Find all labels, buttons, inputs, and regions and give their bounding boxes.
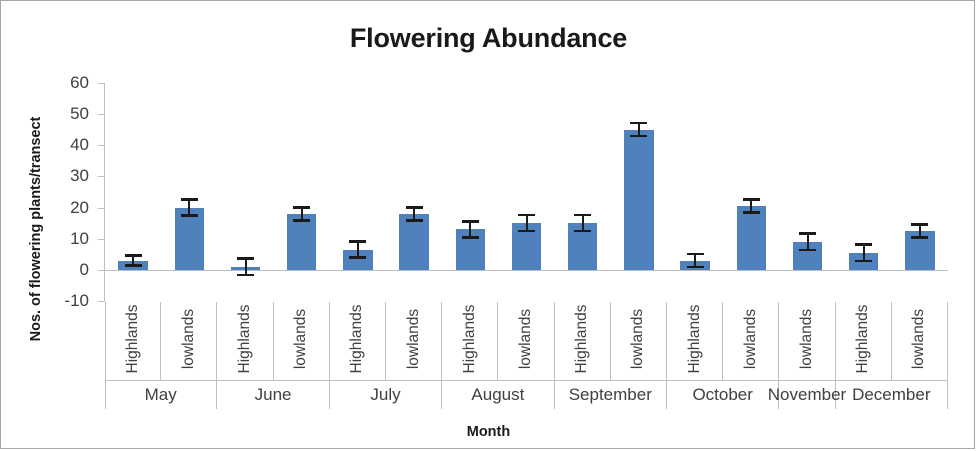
error-bar: [685, 253, 705, 269]
y-tick-mark: [98, 239, 105, 240]
error-bar-cap-bottom: [518, 230, 535, 233]
y-tick-label: 60: [70, 73, 89, 93]
category-label-cell-lowlands: lowlands: [611, 302, 667, 380]
category-label-cell-highlands: Highlands: [555, 302, 611, 380]
error-bar: [460, 220, 480, 239]
x-axis-title: Month: [1, 424, 976, 440]
y-tick-mark: [98, 145, 105, 146]
category-label-cell-highlands: Highlands: [217, 302, 273, 380]
month-label-cell: September: [555, 381, 667, 409]
y-tick-label: 40: [70, 135, 89, 155]
y-tick-label: 30: [70, 166, 89, 186]
y-axis-title: Nos. of flowering plants/transect: [23, 79, 49, 379]
error-bar-cap-bottom: [125, 264, 142, 267]
error-bar-cap-bottom: [687, 266, 704, 269]
category-label: lowlands: [517, 309, 535, 369]
category-label-cell-lowlands: lowlands: [274, 302, 330, 380]
category-label: Highlands: [573, 305, 591, 374]
error-bar-cap-bottom: [349, 256, 366, 259]
category-label: lowlands: [798, 309, 816, 369]
bar[interactable]: [624, 130, 653, 270]
month-label: June: [255, 385, 292, 405]
chart-title: Flowering Abundance: [1, 23, 976, 54]
error-bar-cap-top: [911, 223, 928, 226]
error-bar: [292, 206, 312, 222]
error-bar-cap-top: [406, 206, 423, 209]
month-label: October: [692, 385, 752, 405]
y-tick-mark: [98, 176, 105, 177]
y-tick-label: 0: [80, 260, 89, 280]
error-bar-cap-top: [687, 253, 704, 256]
error-bar-cap-top: [743, 198, 760, 201]
error-bar: [798, 232, 818, 251]
category-label-cell-highlands: Highlands: [442, 302, 498, 380]
category-label: Highlands: [461, 305, 479, 374]
error-bar: [179, 198, 199, 217]
month-label-cell: May: [105, 381, 217, 409]
month-label: December: [852, 385, 930, 405]
category-label: lowlands: [180, 309, 198, 369]
month-label: July: [370, 385, 400, 405]
month-label-cell: October: [667, 381, 779, 409]
category-label: Highlands: [686, 305, 704, 374]
error-bar-cap-bottom: [855, 260, 872, 263]
error-bar-cap-bottom: [799, 249, 816, 252]
month-label-cell: August: [442, 381, 554, 409]
error-bar-cap-bottom: [181, 214, 198, 217]
error-bar-cap-bottom: [911, 236, 928, 239]
error-bar-cap-top: [125, 254, 142, 257]
category-label-cell-highlands: Highlands: [105, 302, 161, 380]
plot-area: [105, 83, 948, 301]
y-tick-mark: [98, 270, 105, 271]
category-label: Highlands: [348, 305, 366, 374]
error-bar-cap-top: [574, 214, 591, 217]
category-label-cell-lowlands: lowlands: [386, 302, 442, 380]
category-label-cell-lowlands: lowlands: [161, 302, 217, 380]
category-label: lowlands: [405, 309, 423, 369]
bar[interactable]: [287, 214, 316, 270]
category-label-cell-lowlands: lowlands: [892, 302, 948, 380]
month-label-cell: December: [836, 381, 948, 409]
month-label: May: [145, 385, 177, 405]
category-labels-band: HighlandslowlandsHighlandslowlandsHighla…: [105, 302, 948, 381]
month-label: August: [471, 385, 524, 405]
error-bar-cap-top: [349, 240, 366, 243]
error-bar: [517, 214, 537, 233]
category-label: Highlands: [236, 305, 254, 374]
bar[interactable]: [737, 206, 766, 270]
y-tick-mark: [98, 301, 105, 302]
y-tick-mark: [98, 83, 105, 84]
error-bar-cap-bottom: [237, 274, 254, 277]
y-tick-mark: [98, 114, 105, 115]
y-tick-label: -10: [64, 291, 89, 311]
error-bar-cap-top: [462, 220, 479, 223]
category-label-cell-lowlands: lowlands: [779, 302, 835, 380]
month-label: September: [569, 385, 652, 405]
month-label-cell: November: [779, 381, 835, 409]
error-bar-cap-bottom: [293, 219, 310, 222]
category-label: lowlands: [910, 309, 928, 369]
error-bar: [123, 254, 143, 266]
y-tick-label: 10: [70, 229, 89, 249]
category-label: lowlands: [629, 309, 647, 369]
y-tick-label: 50: [70, 104, 89, 124]
error-bar-cap-bottom: [574, 230, 591, 233]
category-label: lowlands: [292, 309, 310, 369]
error-bar-cap-bottom: [743, 211, 760, 214]
error-bar: [573, 214, 593, 233]
error-bar-cap-top: [293, 206, 310, 209]
month-labels-band: MayJuneJulyAugustSeptemberOctoberNovembe…: [105, 381, 948, 409]
error-bar-cap-bottom: [630, 135, 647, 138]
chart-frame: Flowering Abundance Nos. of flowering pl…: [0, 0, 975, 449]
error-bar-cap-top: [518, 214, 535, 217]
category-label: lowlands: [742, 309, 760, 369]
category-label: Highlands: [124, 305, 142, 374]
month-label-cell: June: [217, 381, 329, 409]
category-label: Highlands: [854, 305, 872, 374]
error-bar-cap-bottom: [406, 219, 423, 222]
y-tick-label: 20: [70, 198, 89, 218]
bar[interactable]: [175, 208, 204, 270]
category-label-cell-lowlands: lowlands: [723, 302, 779, 380]
error-bar-cap-top: [181, 198, 198, 201]
y-tick-mark: [98, 208, 105, 209]
month-label-cell: July: [330, 381, 442, 409]
category-label-cell-highlands: Highlands: [836, 302, 892, 380]
error-bar-cap-top: [630, 122, 647, 125]
error-bar: [404, 206, 424, 222]
y-axis-tick-labels: 6050403020100-10: [49, 71, 97, 301]
bar[interactable]: [399, 214, 428, 270]
month-label: November: [768, 385, 846, 405]
error-bar: [629, 122, 649, 138]
error-bar-cap-bottom: [462, 236, 479, 239]
y-axis-title-label: Nos. of flowering plants/transect: [28, 117, 44, 342]
error-bar: [236, 257, 256, 276]
category-label-cell-highlands: Highlands: [330, 302, 386, 380]
category-label-cell-lowlands: lowlands: [498, 302, 554, 380]
error-bar: [741, 198, 761, 214]
error-bar-cap-top: [237, 257, 254, 260]
error-bar: [348, 240, 368, 259]
error-bar: [854, 243, 874, 262]
error-bar-cap-top: [855, 243, 872, 246]
category-label-cell-highlands: Highlands: [667, 302, 723, 380]
error-bar: [910, 223, 930, 239]
error-bar-cap-top: [799, 232, 816, 235]
